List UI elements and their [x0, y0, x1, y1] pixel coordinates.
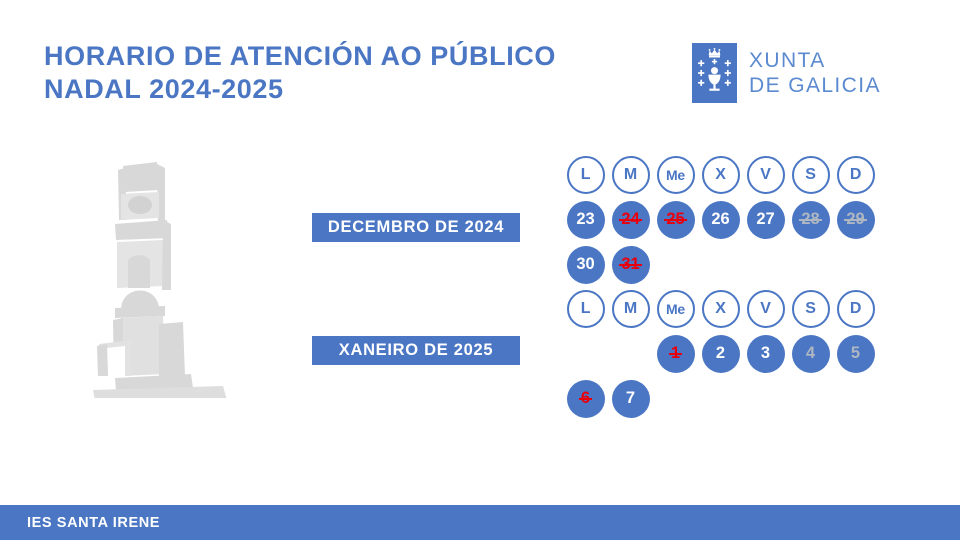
weekday-header-cell-d: D [833, 286, 878, 331]
weekday-header-cell-me: Me [653, 152, 698, 197]
weekday-badge: X [702, 290, 740, 328]
day-number: 2 [716, 344, 725, 363]
weekday-badge: L [567, 290, 605, 328]
weekday-header-cell-x: X [698, 286, 743, 331]
day-badge-31: 31 [612, 246, 650, 284]
day-badge-26: 26 [702, 201, 740, 239]
calendar-day-cell: 26 [698, 197, 743, 242]
weekday-badge: S [792, 156, 830, 194]
calendar-december: LMMeXVSD 23242526272829 3031 [563, 152, 878, 287]
day-badge-5: 5 [837, 335, 875, 373]
day-number: 27 [756, 210, 774, 229]
weekday-header-cell-s: S [788, 152, 833, 197]
day-number: 24 [621, 210, 639, 229]
weekday-badge: V [747, 290, 785, 328]
page-title-line-1: HORARIO DE ATENCIÓN AO PÚBLICO [44, 40, 604, 73]
calendar-day-cell: 23 [563, 197, 608, 242]
calendar-day-cell: 30 [563, 242, 608, 287]
calendar-week-row: 3031 [563, 242, 878, 287]
day-number: 1 [671, 344, 680, 363]
weekday-header-cell-d: D [833, 152, 878, 197]
footer-institution-label: IES SANTA IRENE [27, 515, 160, 531]
calendar-day-cell: 28 [788, 197, 833, 242]
day-badge-25: 25 [657, 201, 695, 239]
weekday-badge: S [792, 290, 830, 328]
day-badge-30: 30 [567, 246, 605, 284]
weekday-header-cell-v: V [743, 152, 788, 197]
weekday-badge: M [612, 290, 650, 328]
weekday-badge: D [837, 290, 875, 328]
day-number: 23 [576, 210, 594, 229]
calendar-week-row: 23242526272829 [563, 197, 878, 242]
calendar-day-cell: 25 [653, 197, 698, 242]
weekday-header-cell-m: M [608, 286, 653, 331]
day-number: 3 [761, 344, 770, 363]
logo-wordmark-line-1: XUNTA [749, 48, 881, 73]
page-title: HORARIO DE ATENCIÓN AO PÚBLICO NADAL 202… [44, 40, 604, 106]
day-badge-27: 27 [747, 201, 785, 239]
calendar-day-cell: 1 [653, 331, 698, 376]
day-number: 29 [846, 210, 864, 229]
day-number: 7 [626, 389, 635, 408]
day-badge-7: 7 [612, 380, 650, 418]
month-banner-december: DECEMBRO DE 2024 [312, 213, 520, 242]
day-badge-23: 23 [567, 201, 605, 239]
weekday-badge: Me [657, 156, 695, 194]
day-number: 28 [801, 210, 819, 229]
calendar-day-cell: 29 [833, 197, 878, 242]
weekday-header-row: LMMeXVSD [563, 152, 878, 197]
weekday-badge: Me [657, 290, 695, 328]
calendar-january: LMMeXVSD 12345 67 [563, 286, 878, 421]
day-number: 30 [576, 255, 594, 274]
day-badge-1: 1 [657, 335, 695, 373]
xunta-coat-of-arms-icon [692, 43, 737, 103]
weekday-header-cell-x: X [698, 152, 743, 197]
day-number: 26 [711, 210, 729, 229]
day-badge-24: 24 [612, 201, 650, 239]
footer-bar: IES SANTA IRENE [0, 505, 960, 540]
logo-wordmark-line-2: DE GALICIA [749, 73, 881, 98]
calendar-day-cell: 3 [743, 331, 788, 376]
day-badge-2: 2 [702, 335, 740, 373]
day-badge-4: 4 [792, 335, 830, 373]
calendar-day-cell: 4 [788, 331, 833, 376]
day-number: 31 [621, 255, 639, 274]
weekday-header-cell-v: V [743, 286, 788, 331]
day-badge-28: 28 [792, 201, 830, 239]
day-number: 25 [666, 210, 684, 229]
day-number: 5 [851, 344, 860, 363]
calendar-day-cell: 6 [563, 376, 608, 421]
weekday-badge: V [747, 156, 785, 194]
weekday-badge: X [702, 156, 740, 194]
xunta-de-galicia-logo: XUNTA DE GALICIA [692, 43, 881, 103]
calendar-day-cell: 2 [698, 331, 743, 376]
weekday-header-cell-l: L [563, 152, 608, 197]
calendar-day-cell: 24 [608, 197, 653, 242]
calendar-day-cell: 31 [608, 242, 653, 287]
calendar-week-row: 67 [563, 376, 878, 421]
tower-watermark-icon [85, 158, 245, 398]
weekday-badge: M [612, 156, 650, 194]
weekday-header-cell-me: Me [653, 286, 698, 331]
calendar-day-cell: 27 [743, 197, 788, 242]
day-badge-29: 29 [837, 201, 875, 239]
month-banner-january: XANEIRO DE 2025 [312, 336, 520, 365]
weekday-header-cell-s: S [788, 286, 833, 331]
weekday-badge: D [837, 156, 875, 194]
weekday-badge: L [567, 156, 605, 194]
weekday-header-cell-l: L [563, 286, 608, 331]
calendar-day-cell: 7 [608, 376, 653, 421]
day-badge-3: 3 [747, 335, 785, 373]
calendar-week-row: 12345 [563, 331, 878, 376]
day-badge-6: 6 [567, 380, 605, 418]
calendar-day-cell: 5 [833, 331, 878, 376]
page-title-line-2: NADAL 2024-2025 [44, 73, 604, 106]
day-number: 4 [806, 344, 815, 363]
day-number: 6 [581, 389, 590, 408]
weekday-header-cell-m: M [608, 152, 653, 197]
logo-wordmark: XUNTA DE GALICIA [749, 48, 881, 98]
weekday-header-row: LMMeXVSD [563, 286, 878, 331]
